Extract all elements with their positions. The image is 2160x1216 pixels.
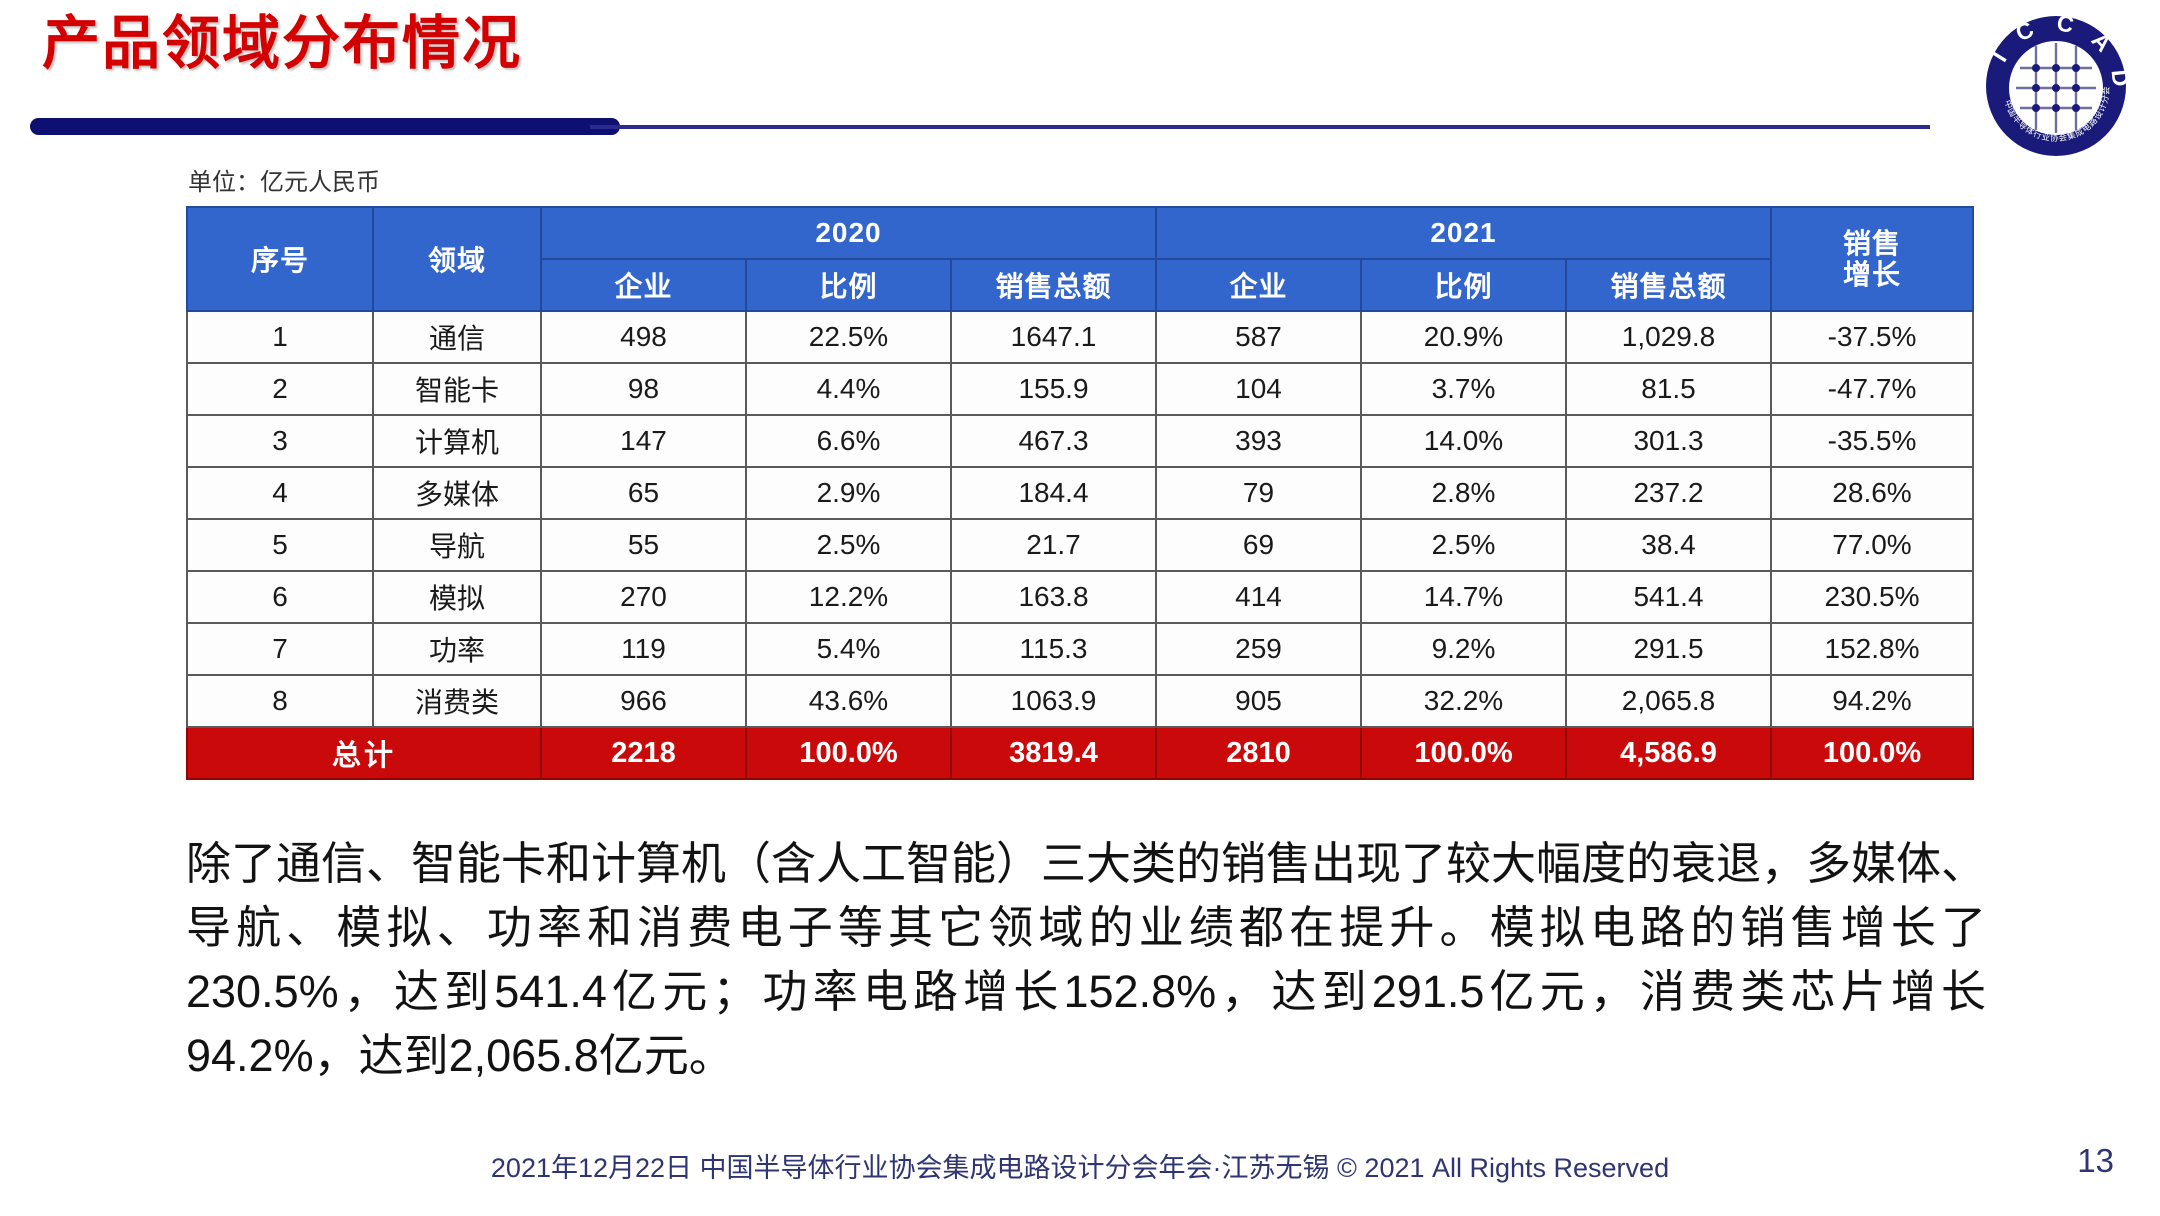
cell-ratio-2020: 2.5% xyxy=(746,519,951,571)
cell-total-label: 总计 xyxy=(187,727,541,779)
cell-total-ratio-2020: 100.0% xyxy=(746,727,951,779)
cell-field: 导航 xyxy=(373,519,541,571)
cell-growth: -37.5% xyxy=(1771,311,1973,363)
col-header-2020-ratio: 比例 xyxy=(746,259,951,311)
page-number: 13 xyxy=(2077,1142,2114,1180)
cell-sales-2021: 1,029.8 xyxy=(1566,311,1771,363)
cell-sales-2021: 301.3 xyxy=(1566,415,1771,467)
title-divider-thick xyxy=(30,118,620,135)
table-body: 1 通信 498 22.5% 1647.1 587 20.9% 1,029.8 … xyxy=(187,311,1973,779)
cell-growth: 94.2% xyxy=(1771,675,1973,727)
cell-firm-2021: 905 xyxy=(1156,675,1361,727)
cell-seq: 3 xyxy=(187,415,373,467)
cell-firm-2021: 414 xyxy=(1156,571,1361,623)
cell-ratio-2020: 5.4% xyxy=(746,623,951,675)
table-row: 3 计算机 147 6.6% 467.3 393 14.0% 301.3 -35… xyxy=(187,415,1973,467)
cell-ratio-2021: 2.8% xyxy=(1361,467,1566,519)
cell-ratio-2021: 3.7% xyxy=(1361,363,1566,415)
cell-sales-2021: 291.5 xyxy=(1566,623,1771,675)
table-header-row-1: 序号 领域 2020 2021 销售 增长 xyxy=(187,207,1973,259)
cell-firm-2020: 65 xyxy=(541,467,746,519)
cell-sales-2021: 81.5 xyxy=(1566,363,1771,415)
cell-firm-2021: 79 xyxy=(1156,467,1361,519)
cell-growth: 77.0% xyxy=(1771,519,1973,571)
unit-caption: 单位：亿元人民币 xyxy=(188,162,380,197)
cell-total-sales-2020: 3819.4 xyxy=(951,727,1156,779)
cell-sales-2021: 2,065.8 xyxy=(1566,675,1771,727)
cell-seq: 7 xyxy=(187,623,373,675)
cell-ratio-2021: 14.0% xyxy=(1361,415,1566,467)
cell-sales-2020: 155.9 xyxy=(951,363,1156,415)
table-row: 6 模拟 270 12.2% 163.8 414 14.7% 541.4 230… xyxy=(187,571,1973,623)
cell-field: 模拟 xyxy=(373,571,541,623)
col-header-seq: 序号 xyxy=(187,207,373,311)
cell-total-sales-2021: 4,586.9 xyxy=(1566,727,1771,779)
cell-sales-2020: 1063.9 xyxy=(951,675,1156,727)
cell-sales-2021: 541.4 xyxy=(1566,571,1771,623)
cell-seq: 2 xyxy=(187,363,373,415)
cell-growth: 28.6% xyxy=(1771,467,1973,519)
cell-ratio-2021: 2.5% xyxy=(1361,519,1566,571)
cell-firm-2021: 587 xyxy=(1156,311,1361,363)
table-row: 4 多媒体 65 2.9% 184.4 79 2.8% 237.2 28.6% xyxy=(187,467,1973,519)
cell-sales-2020: 163.8 xyxy=(951,571,1156,623)
footer-text: 2021年12月22日 中国半导体行业协会集成电路设计分会年会·江苏无锡 © 2… xyxy=(0,1146,2160,1185)
cell-growth: 230.5% xyxy=(1771,571,1973,623)
cell-firm-2020: 147 xyxy=(541,415,746,467)
cell-total-ratio-2021: 100.0% xyxy=(1361,727,1566,779)
title-divider-thin xyxy=(590,125,1930,129)
cell-firm-2021: 393 xyxy=(1156,415,1361,467)
body-paragraph-block: 除了通信、智能卡和计算机（含人工智能）三大类的销售出现了较大幅度的衰退，多媒体、… xyxy=(186,832,1986,1088)
iccad-logo: I C C A D 中国半导体行业协会集成电路设计分会 xyxy=(1980,10,2132,162)
title-divider xyxy=(30,118,1930,136)
cell-sales-2020: 21.7 xyxy=(951,519,1156,571)
cell-field: 计算机 xyxy=(373,415,541,467)
cell-firm-2020: 966 xyxy=(541,675,746,727)
cell-total-firm-2020: 2218 xyxy=(541,727,746,779)
table-header: 序号 领域 2020 2021 销售 增长 企业 比例 销售总额 企业 比例 销… xyxy=(187,207,1973,311)
col-header-2021-firm: 企业 xyxy=(1156,259,1361,311)
table-row: 2 智能卡 98 4.4% 155.9 104 3.7% 81.5 -47.7% xyxy=(187,363,1973,415)
slide-root: 产品领域分布情况 xyxy=(0,0,2160,1216)
col-header-2020-sales: 销售总额 xyxy=(951,259,1156,311)
cell-sales-2020: 1647.1 xyxy=(951,311,1156,363)
cell-growth: -47.7% xyxy=(1771,363,1973,415)
product-field-table: 序号 领域 2020 2021 销售 增长 企业 比例 销售总额 企业 比例 销… xyxy=(186,206,1974,780)
cell-ratio-2020: 6.6% xyxy=(746,415,951,467)
table-row: 7 功率 119 5.4% 115.3 259 9.2% 291.5 152.8… xyxy=(187,623,1973,675)
growth-head-line1: 销售 xyxy=(1843,228,1901,259)
table-row: 1 通信 498 22.5% 1647.1 587 20.9% 1,029.8 … xyxy=(187,311,1973,363)
cell-field: 多媒体 xyxy=(373,467,541,519)
col-header-2020-firm: 企业 xyxy=(541,259,746,311)
growth-head-line2: 增长 xyxy=(1843,259,1901,290)
cell-firm-2021: 69 xyxy=(1156,519,1361,571)
cell-ratio-2020: 4.4% xyxy=(746,363,951,415)
cell-ratio-2021: 32.2% xyxy=(1361,675,1566,727)
cell-sales-2021: 237.2 xyxy=(1566,467,1771,519)
table-row: 8 消费类 966 43.6% 1063.9 905 32.2% 2,065.8… xyxy=(187,675,1973,727)
cell-firm-2021: 259 xyxy=(1156,623,1361,675)
cell-field: 通信 xyxy=(373,311,541,363)
cell-ratio-2020: 22.5% xyxy=(746,311,951,363)
cell-ratio-2021: 14.7% xyxy=(1361,571,1566,623)
col-header-2021-ratio: 比例 xyxy=(1361,259,1566,311)
body-paragraph: 除了通信、智能卡和计算机（含人工智能）三大类的销售出现了较大幅度的衰退，多媒体、… xyxy=(186,832,1986,1088)
table-row: 5 导航 55 2.5% 21.7 69 2.5% 38.4 77.0% xyxy=(187,519,1973,571)
col-header-field: 领域 xyxy=(373,207,541,311)
page-title: 产品领域分布情况 xyxy=(42,12,522,76)
cell-sales-2020: 467.3 xyxy=(951,415,1156,467)
cell-ratio-2020: 43.6% xyxy=(746,675,951,727)
cell-seq: 8 xyxy=(187,675,373,727)
cell-ratio-2021: 20.9% xyxy=(1361,311,1566,363)
cell-field: 消费类 xyxy=(373,675,541,727)
product-field-table-wrap: 序号 领域 2020 2021 销售 增长 企业 比例 销售总额 企业 比例 销… xyxy=(186,206,1974,780)
cell-sales-2020: 184.4 xyxy=(951,467,1156,519)
cell-growth: 152.8% xyxy=(1771,623,1973,675)
cell-firm-2020: 55 xyxy=(541,519,746,571)
col-header-year-2021: 2021 xyxy=(1156,207,1771,259)
table-total-row: 总计 2218 100.0% 3819.4 2810 100.0% 4,586.… xyxy=(187,727,1973,779)
cell-ratio-2020: 12.2% xyxy=(746,571,951,623)
cell-ratio-2020: 2.9% xyxy=(746,467,951,519)
cell-total-growth: 100.0% xyxy=(1771,727,1973,779)
col-header-year-2020: 2020 xyxy=(541,207,1156,259)
cell-ratio-2021: 9.2% xyxy=(1361,623,1566,675)
cell-field: 功率 xyxy=(373,623,541,675)
cell-firm-2020: 119 xyxy=(541,623,746,675)
cell-firm-2020: 498 xyxy=(541,311,746,363)
cell-sales-2020: 115.3 xyxy=(951,623,1156,675)
cell-total-firm-2021: 2810 xyxy=(1156,727,1361,779)
col-header-sales-growth: 销售 增长 xyxy=(1771,207,1973,311)
cell-seq: 5 xyxy=(187,519,373,571)
cell-firm-2020: 270 xyxy=(541,571,746,623)
cell-growth: -35.5% xyxy=(1771,415,1973,467)
cell-firm-2020: 98 xyxy=(541,363,746,415)
cell-sales-2021: 38.4 xyxy=(1566,519,1771,571)
cell-firm-2021: 104 xyxy=(1156,363,1361,415)
cell-seq: 6 xyxy=(187,571,373,623)
cell-field: 智能卡 xyxy=(373,363,541,415)
cell-seq: 4 xyxy=(187,467,373,519)
cell-seq: 1 xyxy=(187,311,373,363)
col-header-2021-sales: 销售总额 xyxy=(1566,259,1771,311)
